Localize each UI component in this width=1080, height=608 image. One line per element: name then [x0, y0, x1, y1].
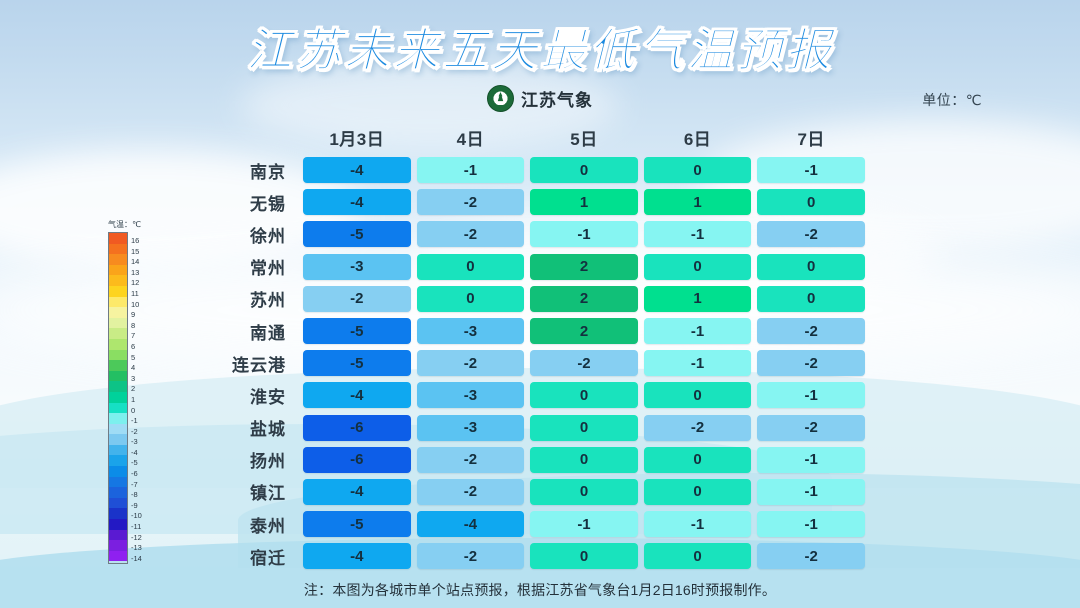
temperature-cell: 0: [530, 447, 638, 473]
temperature-cell-wrapper: 0: [754, 286, 868, 312]
temperature-cell-wrapper: -4: [300, 543, 414, 569]
temperature-cell-wrapper: -2: [414, 189, 528, 215]
city-label: 南通: [188, 319, 300, 344]
legend-tick: 12: [131, 278, 142, 289]
legend-swatch: [109, 424, 127, 435]
legend-swatch: [109, 466, 127, 477]
temperature-cell: -2: [303, 286, 411, 312]
temperature-cell: -2: [417, 350, 525, 376]
legend-swatch: [109, 381, 127, 392]
legend-color-bars: [108, 232, 128, 564]
legend-swatch: [109, 551, 127, 562]
legend-swatch: [109, 275, 127, 286]
legend-swatch: [109, 244, 127, 255]
legend-tick: -8: [131, 490, 142, 501]
temperature-cell-wrapper: -2: [414, 479, 528, 505]
legend-swatch: [109, 339, 127, 350]
legend-tick: -10: [131, 511, 142, 522]
legend-swatch: [109, 286, 127, 297]
table-row: 徐州-5-2-1-1-2: [188, 218, 868, 250]
temperature-cell: -3: [417, 415, 525, 441]
table-row: 扬州-6-200-1: [188, 444, 868, 476]
legend-tick: -1: [131, 416, 142, 427]
temperature-cell: -2: [417, 447, 525, 473]
jiangsu-meteorology-emblem-icon: [487, 85, 514, 112]
temperature-cell: -2: [530, 350, 638, 376]
temperature-cell: 0: [530, 382, 638, 408]
legend-swatch: [109, 530, 127, 541]
temperature-cell: 1: [530, 189, 638, 215]
city-label: 南京: [188, 158, 300, 183]
temperature-cell-wrapper: 2: [527, 254, 641, 280]
temperature-cell: -2: [644, 415, 752, 441]
city-label: 苏州: [188, 286, 300, 311]
temperature-cell-wrapper: 2: [527, 286, 641, 312]
temperature-cell-wrapper: -4: [300, 479, 414, 505]
temperature-cell: 2: [530, 286, 638, 312]
temperature-cell-wrapper: -2: [754, 350, 868, 376]
table-row: 南京-4-100-1: [188, 154, 868, 186]
city-label: 连云港: [188, 351, 300, 376]
temperature-cell: 0: [417, 286, 525, 312]
temperature-cell-wrapper: 0: [641, 447, 755, 473]
temperature-cell: 0: [417, 254, 525, 280]
footnote: 注：本图为各城市单个站点预报，根据江苏省气象台1月2日16时预报制作。: [0, 580, 1080, 600]
legend-swatch: [109, 350, 127, 361]
unit-label: 单位：℃: [922, 90, 982, 110]
column-header: 5日: [527, 125, 641, 150]
legend-tick: -6: [131, 469, 142, 480]
legend-tick: -13: [131, 543, 142, 554]
temperature-cell: -2: [417, 221, 525, 247]
temperature-cell-wrapper: -4: [300, 189, 414, 215]
temperature-cell-wrapper: -3: [300, 254, 414, 280]
temperature-cell: -4: [303, 157, 411, 183]
temperature-cell-wrapper: 0: [754, 254, 868, 280]
table-header-row: 1月3日4日5日6日7日: [188, 120, 868, 154]
temperature-cell: -1: [644, 511, 752, 537]
temperature-cell-wrapper: -5: [300, 221, 414, 247]
temperature-cell-wrapper: -2: [754, 221, 868, 247]
legend-tick: 13: [131, 268, 142, 279]
temperature-cell-wrapper: -3: [414, 415, 528, 441]
temperature-cell: 0: [530, 543, 638, 569]
temperature-cell-wrapper: -4: [414, 511, 528, 537]
temperature-cell: 0: [757, 254, 865, 280]
legend-swatch: [109, 307, 127, 318]
temperature-cell: -1: [757, 511, 865, 537]
column-header: 1月3日: [300, 125, 414, 150]
temperature-cell: -2: [757, 415, 865, 441]
temperature-cell: -4: [303, 479, 411, 505]
legend-tick: 2: [131, 384, 142, 395]
column-header: 4日: [414, 125, 528, 150]
legend-swatch: [109, 233, 127, 244]
temperature-cell: -2: [417, 479, 525, 505]
temperature-cell-wrapper: 1: [641, 189, 755, 215]
temperature-cell-wrapper: -2: [754, 415, 868, 441]
temperature-cell-wrapper: -1: [641, 511, 755, 537]
temperature-cell: -1: [644, 350, 752, 376]
temperature-cell-wrapper: -2: [754, 543, 868, 569]
temperature-cell: 0: [530, 415, 638, 441]
legend-tick-labels: 161514131211109876543210-1-2-3-4-5-6-7-8…: [131, 232, 142, 564]
legend-swatch: [109, 487, 127, 498]
table-row: 盐城-6-30-2-2: [188, 412, 868, 444]
temperature-cell: 2: [530, 318, 638, 344]
legend-tick: -12: [131, 533, 142, 544]
temperature-cell-wrapper: 0: [527, 382, 641, 408]
legend-swatch: [109, 360, 127, 371]
temperature-cell-wrapper: -2: [300, 286, 414, 312]
legend-swatch: [109, 318, 127, 329]
legend-tick: -9: [131, 501, 142, 512]
city-label: 徐州: [188, 222, 300, 247]
temperature-cell-wrapper: -6: [300, 415, 414, 441]
temperature-cell-wrapper: 0: [641, 254, 755, 280]
legend-tick: -3: [131, 437, 142, 448]
temperature-cell: -4: [303, 189, 411, 215]
legend-swatch: [109, 445, 127, 456]
temperature-cell-wrapper: 0: [414, 254, 528, 280]
legend-tick: 0: [131, 406, 142, 417]
temperature-cell-wrapper: -5: [300, 350, 414, 376]
table-row: 镇江-4-200-1: [188, 476, 868, 508]
temperature-cell: -6: [303, 447, 411, 473]
temperature-cell: -2: [757, 221, 865, 247]
column-header: 6日: [641, 125, 755, 150]
legend-swatch: [109, 508, 127, 519]
legend-tick: -7: [131, 480, 142, 491]
temperature-cell-wrapper: 0: [414, 286, 528, 312]
brand-label: 江苏气象: [521, 86, 593, 111]
temperature-cell: 0: [530, 479, 638, 505]
temperature-cell: -1: [757, 479, 865, 505]
legend-tick: -2: [131, 427, 142, 438]
legend-swatch: [109, 477, 127, 488]
city-label: 泰州: [188, 512, 300, 537]
temperature-cell: 0: [530, 157, 638, 183]
temperature-cell: -5: [303, 221, 411, 247]
temperature-cell-wrapper: -1: [754, 447, 868, 473]
table-row: 宿迁-4-200-2: [188, 540, 868, 572]
temperature-cell-wrapper: -1: [754, 479, 868, 505]
legend-tick: -4: [131, 448, 142, 459]
legend-title: 气温：℃: [108, 219, 142, 230]
temperature-cell-wrapper: -1: [527, 221, 641, 247]
column-header: 7日: [754, 125, 868, 150]
legend-tick: 14: [131, 257, 142, 268]
legend-tick: 6: [131, 342, 142, 353]
temperature-cell-wrapper: 1: [641, 286, 755, 312]
legend-swatch: [109, 434, 127, 445]
temperature-cell: -5: [303, 511, 411, 537]
temperature-cell: -4: [303, 382, 411, 408]
legend-swatch: [109, 254, 127, 265]
temperature-cell: 0: [644, 479, 752, 505]
city-label: 淮安: [188, 383, 300, 408]
legend-tick: 15: [131, 247, 142, 258]
temperature-cell-wrapper: -2: [754, 318, 868, 344]
legend-tick: 3: [131, 374, 142, 385]
legend-tick: 11: [131, 289, 142, 300]
page-title: 江苏未来五天最低气温预报: [246, 14, 834, 80]
page-title-container: 江苏未来五天最低气温预报: [0, 14, 1080, 80]
legend-tick: -5: [131, 458, 142, 469]
temperature-cell: 1: [644, 189, 752, 215]
temperature-cell-wrapper: -2: [641, 415, 755, 441]
temperature-cell: 1: [644, 286, 752, 312]
table-row: 淮安-4-300-1: [188, 379, 868, 411]
temperature-cell-wrapper: 0: [527, 479, 641, 505]
temperature-cell-wrapper: 0: [527, 543, 641, 569]
city-label: 无锡: [188, 190, 300, 215]
temperature-cell-wrapper: -1: [414, 157, 528, 183]
temperature-cell: 2: [530, 254, 638, 280]
temperature-cell-wrapper: 0: [527, 447, 641, 473]
table-row: 南通-5-32-1-2: [188, 315, 868, 347]
temperature-cell: -2: [417, 189, 525, 215]
temperature-cell-wrapper: -1: [527, 511, 641, 537]
city-label: 扬州: [188, 447, 300, 472]
temperature-cell-wrapper: -1: [754, 382, 868, 408]
temperature-cell-wrapper: -5: [300, 511, 414, 537]
legend-tick: 7: [131, 331, 142, 342]
temperature-cell-wrapper: 0: [641, 479, 755, 505]
forecast-table: 1月3日4日5日6日7日 南京-4-100-1无锡-4-2110徐州-5-2-1…: [188, 120, 868, 572]
temperature-cell-wrapper: -1: [641, 318, 755, 344]
legend-tick: 5: [131, 353, 142, 364]
legend-swatch: [109, 519, 127, 530]
legend-swatch: [109, 328, 127, 339]
temperature-cell-wrapper: -1: [754, 511, 868, 537]
temperature-cell: 0: [644, 157, 752, 183]
table-row: 苏州-20210: [188, 283, 868, 315]
temperature-cell: 0: [644, 447, 752, 473]
temperature-cell-wrapper: 0: [754, 189, 868, 215]
temperature-cell-wrapper: -2: [527, 350, 641, 376]
legend-swatch: [109, 392, 127, 403]
temperature-cell-wrapper: -2: [414, 447, 528, 473]
temperature-cell: -6: [303, 415, 411, 441]
temperature-cell: -1: [417, 157, 525, 183]
temperature-cell: -1: [644, 221, 752, 247]
legend-tick: 16: [131, 236, 142, 247]
temperature-cell: -2: [757, 543, 865, 569]
legend-swatch: [109, 455, 127, 466]
temperature-cell: 0: [757, 286, 865, 312]
city-label: 常州: [188, 254, 300, 279]
temperature-cell-wrapper: -3: [414, 318, 528, 344]
temperature-cell: -1: [757, 447, 865, 473]
temperature-cell: 0: [644, 543, 752, 569]
city-label: 盐城: [188, 415, 300, 440]
temperature-cell: -1: [757, 157, 865, 183]
temperature-cell-wrapper: -2: [414, 543, 528, 569]
table-row: 泰州-5-4-1-1-1: [188, 508, 868, 540]
legend-swatch: [109, 498, 127, 509]
temperature-cell: -3: [417, 318, 525, 344]
temperature-cell-wrapper: -6: [300, 447, 414, 473]
temperature-cell-wrapper: 0: [641, 382, 755, 408]
legend-tick: 10: [131, 300, 142, 311]
legend-swatch: [109, 265, 127, 276]
temperature-cell-wrapper: -1: [754, 157, 868, 183]
temperature-cell-wrapper: -4: [300, 382, 414, 408]
temperature-cell: -5: [303, 350, 411, 376]
temperature-cell-wrapper: 1: [527, 189, 641, 215]
temperature-cell-wrapper: -3: [414, 382, 528, 408]
temperature-cell: -2: [757, 318, 865, 344]
temperature-cell-wrapper: -4: [300, 157, 414, 183]
legend-swatch: [109, 413, 127, 424]
temperature-cell: -1: [530, 511, 638, 537]
temperature-cell: -3: [303, 254, 411, 280]
temperature-cell-wrapper: -2: [414, 350, 528, 376]
temperature-cell: -1: [757, 382, 865, 408]
city-label: 宿迁: [188, 544, 300, 569]
city-label: 镇江: [188, 479, 300, 504]
temperature-cell-wrapper: -1: [641, 350, 755, 376]
temperature-cell-wrapper: -5: [300, 318, 414, 344]
legend-tick: -11: [131, 522, 142, 533]
table-row: 连云港-5-2-2-1-2: [188, 347, 868, 379]
temperature-cell-wrapper: 2: [527, 318, 641, 344]
temperature-cell: 0: [757, 189, 865, 215]
temperature-cell: 0: [644, 254, 752, 280]
brand-row: 江苏气象: [0, 85, 1080, 112]
temperature-cell-wrapper: 0: [527, 415, 641, 441]
temperature-cell: -1: [644, 318, 752, 344]
temperature-cell: -3: [417, 382, 525, 408]
temperature-cell-wrapper: 0: [641, 543, 755, 569]
table-body: 南京-4-100-1无锡-4-2110徐州-5-2-1-1-2常州-30200苏…: [188, 154, 868, 572]
temperature-cell: 0: [644, 382, 752, 408]
temperature-legend: 气温：℃ 161514131211109876543210-1-2-3-4-5-…: [108, 219, 142, 564]
legend-tick: -14: [131, 554, 142, 565]
legend-tick: 8: [131, 321, 142, 332]
legend-swatch: [109, 403, 127, 414]
temperature-cell-wrapper: -1: [641, 221, 755, 247]
legend-swatch: [109, 297, 127, 308]
table-row: 常州-30200: [188, 251, 868, 283]
legend-tick: 4: [131, 363, 142, 374]
table-row: 无锡-4-2110: [188, 186, 868, 218]
legend-swatch: [109, 540, 127, 551]
temperature-cell-wrapper: 0: [527, 157, 641, 183]
temperature-cell-wrapper: 0: [641, 157, 755, 183]
legend-swatch: [109, 371, 127, 382]
temperature-cell: -4: [417, 511, 525, 537]
temperature-cell-wrapper: -2: [414, 221, 528, 247]
legend-tick: 9: [131, 310, 142, 321]
legend-tick: 1: [131, 395, 142, 406]
temperature-cell: -2: [757, 350, 865, 376]
temperature-cell: -2: [417, 543, 525, 569]
temperature-cell: -1: [530, 221, 638, 247]
temperature-cell: -4: [303, 543, 411, 569]
temperature-cell: -5: [303, 318, 411, 344]
